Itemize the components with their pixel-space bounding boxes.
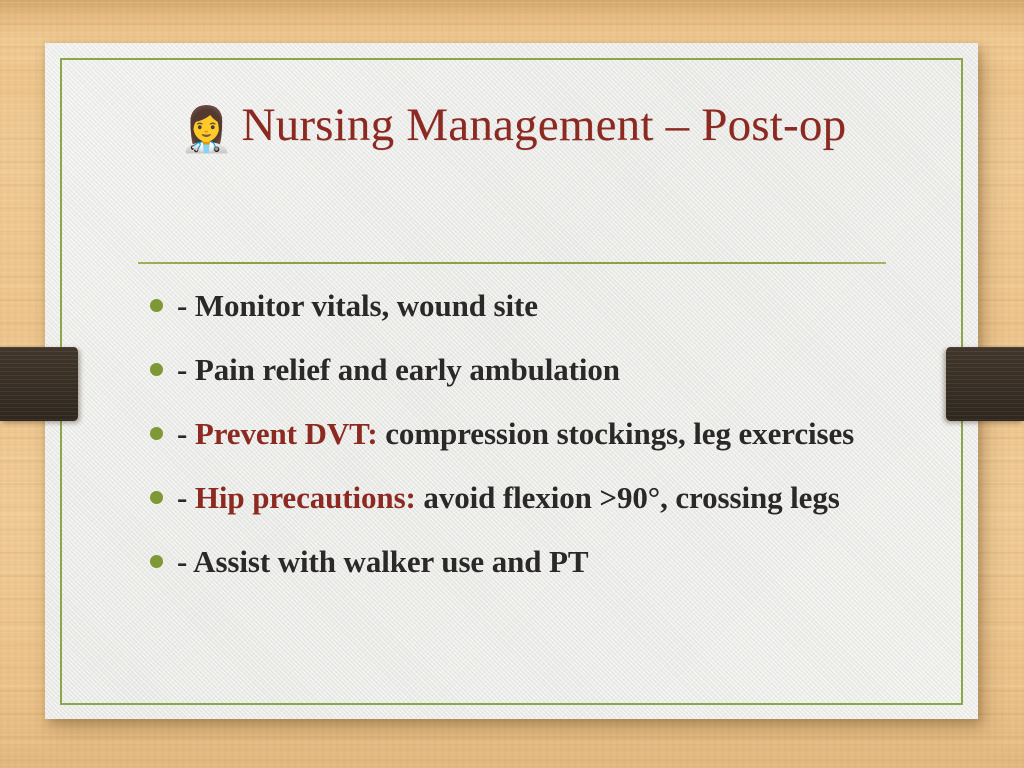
bullet-prefix: -	[177, 480, 195, 515]
list-item: - Hip precautions: avoid flexion >90°, c…	[145, 476, 905, 519]
slide-content: 👩‍⚕️Nursing Management – Post-op - Monit…	[45, 43, 978, 719]
bullet-body: Monitor vitals, wound site	[195, 288, 538, 323]
title-divider	[138, 262, 886, 264]
bullet-highlight: Hip precautions:	[195, 480, 416, 515]
bullet-highlight: Prevent DVT:	[195, 416, 378, 451]
bullet-body: avoid flexion >90°, crossing legs	[416, 480, 840, 515]
bullet-dot-icon	[150, 299, 163, 312]
bullet-dot-icon	[150, 555, 163, 568]
bullet-dot-icon	[150, 427, 163, 440]
list-item: - Prevent DVT: compression stockings, le…	[145, 412, 905, 455]
woman-health-worker-icon: 👩‍⚕️	[180, 105, 234, 155]
list-item: - Pain relief and early ambulation	[145, 348, 905, 391]
slide-card: 👩‍⚕️Nursing Management – Post-op - Monit…	[45, 43, 978, 719]
bullet-dot-icon	[150, 491, 163, 504]
bullet-list: - Monitor vitals, wound site - Pain reli…	[145, 284, 905, 604]
bullet-body: Assist with walker use and PT	[193, 544, 588, 579]
bullet-body: compression stockings, leg exercises	[378, 416, 854, 451]
bullet-prefix: -	[177, 544, 193, 579]
list-item: - Assist with walker use and PT	[145, 540, 905, 583]
bullet-prefix: -	[177, 352, 195, 387]
slide-title-block: 👩‍⚕️Nursing Management – Post-op	[138, 93, 888, 162]
ribbon-strap-left	[0, 347, 78, 421]
bullet-body: Pain relief and early ambulation	[195, 352, 620, 387]
bullet-dot-icon	[150, 363, 163, 376]
page-title: 👩‍⚕️Nursing Management – Post-op	[138, 93, 888, 162]
bullet-prefix: -	[177, 416, 195, 451]
ribbon-strap-right	[946, 347, 1024, 421]
list-item: - Monitor vitals, wound site	[145, 284, 905, 327]
page-title-text: Nursing Management – Post-op	[241, 99, 846, 151]
bullet-prefix: -	[177, 288, 195, 323]
